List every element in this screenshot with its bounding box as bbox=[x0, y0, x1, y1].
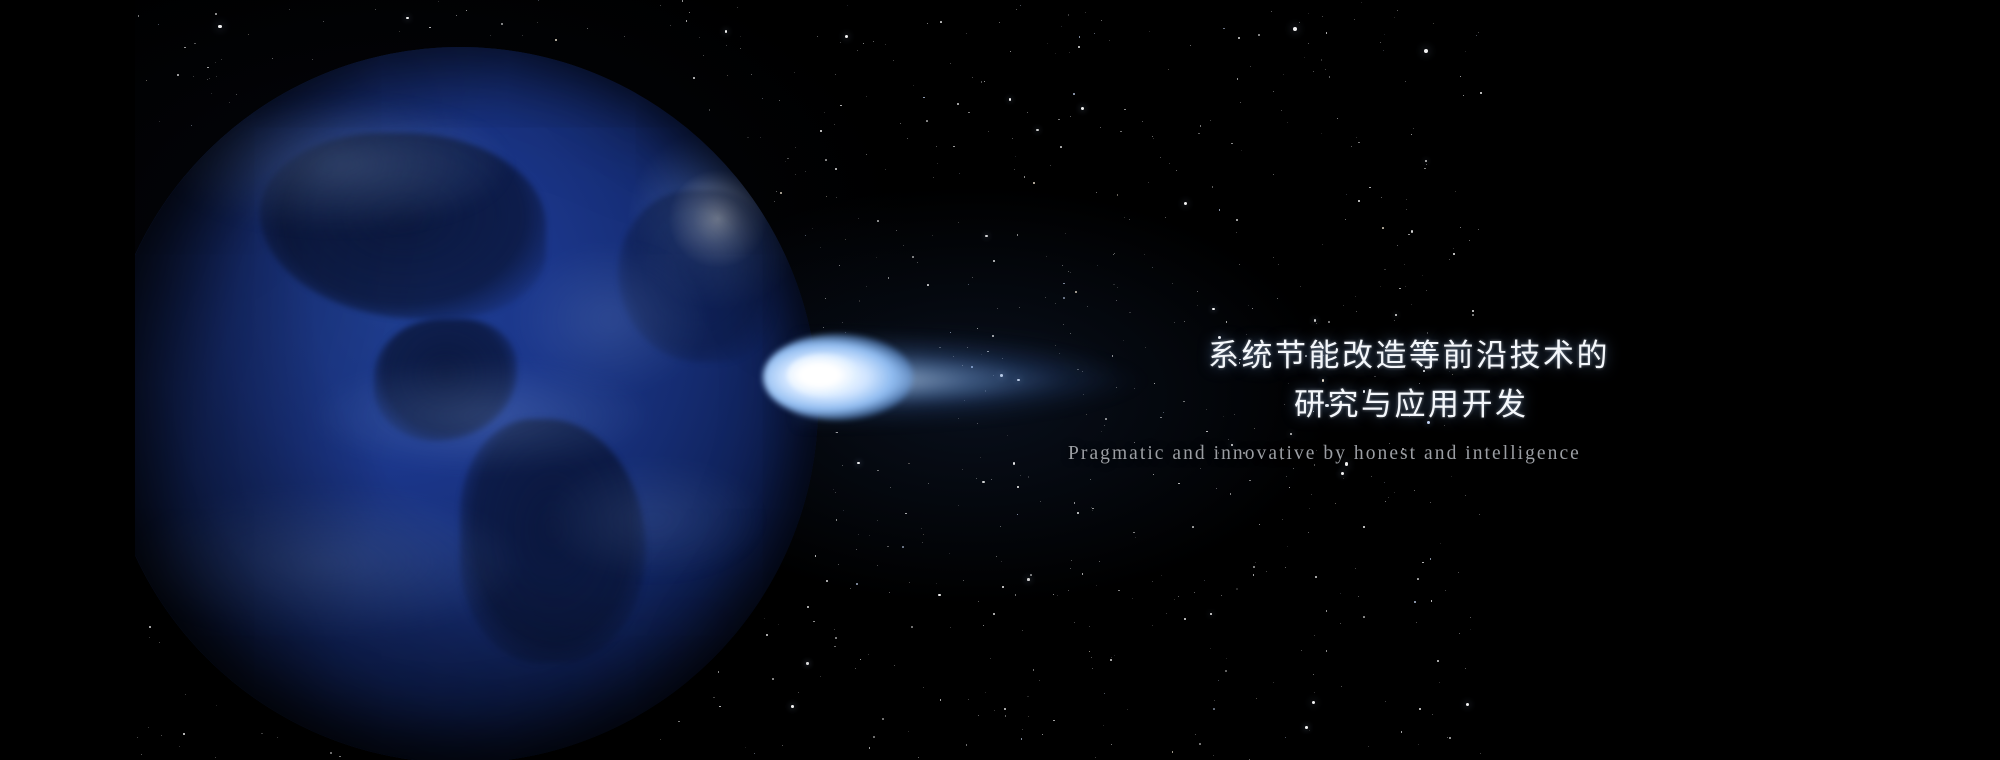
space-photo-region bbox=[135, 0, 1487, 760]
hero-banner: 系统节能改造等前沿技术的 研究与应用开发 Pragmatic and innov… bbox=[0, 0, 2000, 760]
earth-globe bbox=[135, 47, 818, 760]
